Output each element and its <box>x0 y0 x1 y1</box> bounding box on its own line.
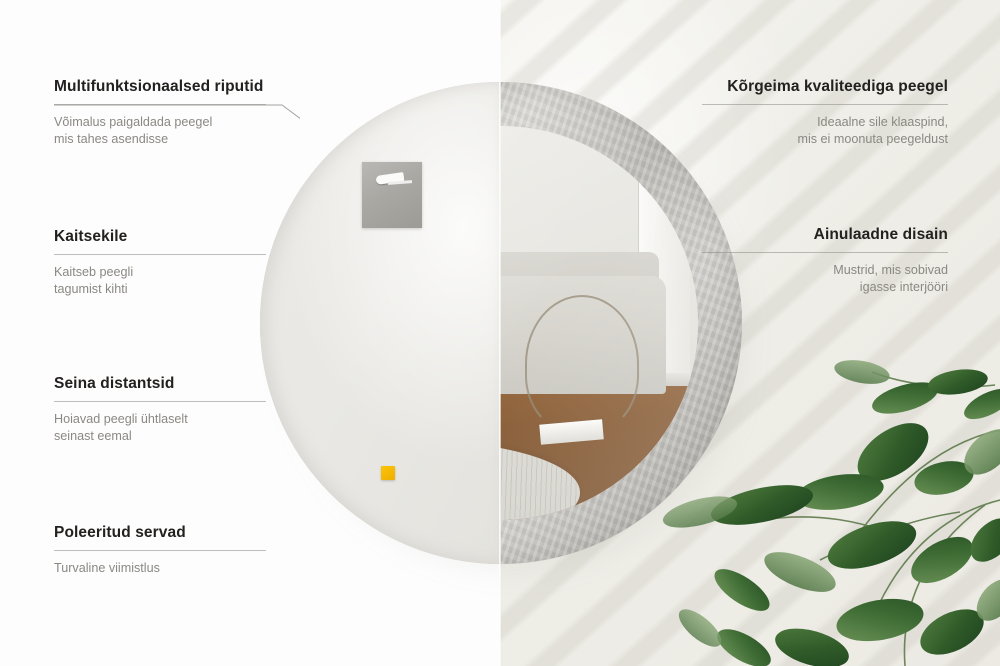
callout-seina-distantsid: Seina distantsid Hoiavad peegli ühtlasel… <box>54 375 266 446</box>
callout-desc-line1: Võimalus paigaldada peegel <box>54 114 266 132</box>
callout-rule <box>54 104 266 105</box>
mirror-left-edge-shadow <box>260 82 500 564</box>
hanger-bracket-detail <box>362 162 422 228</box>
callout-desc-line1: Mustrid, mis sobivad <box>702 262 948 280</box>
hanger-bar-icon <box>388 180 412 185</box>
callout-title: Multifunktsionaalsed riputid <box>54 78 266 97</box>
callout-desc-line2: seinast eemal <box>54 428 266 446</box>
callout-desc-line2: tagumist kihti <box>54 281 266 299</box>
callout-poleeritud-servad: Poleeritud servad Turvaline viimistlus <box>54 524 266 577</box>
callout-rule <box>54 254 266 255</box>
callout-rule <box>54 550 266 551</box>
callout-multifunktsionaalsed-riputid: Multifunktsionaalsed riputid Võimalus pa… <box>54 78 266 149</box>
panel-seam <box>499 0 501 666</box>
callout-desc-line2: igasse interjööri <box>702 279 948 297</box>
callout-desc-line2: mis ei moonuta peegeldust <box>702 131 948 149</box>
callout-korgeima-kvaliteediga-peegel: Kõrgeima kvaliteediga peegel Ideaalne si… <box>702 78 948 149</box>
callout-desc-line1: Ideaalne sile klaaspind, <box>702 114 948 132</box>
callout-rule <box>702 252 948 253</box>
callout-desc-line2: mis tahes asendisse <box>54 131 266 149</box>
infographic-canvas: Multifunktsionaalsed riputid Võimalus pa… <box>0 0 1000 666</box>
callout-title: Ainulaadne disain <box>702 226 948 245</box>
callout-title: Kaitsekile <box>54 228 266 247</box>
callout-desc-line1: Kaitseb peegli <box>54 264 266 282</box>
wall-spacer-detail <box>381 466 395 480</box>
callout-rule <box>54 401 266 402</box>
callout-rule <box>702 104 948 105</box>
callout-ainulaadne-disain: Ainulaadne disain Mustrid, mis sobivad i… <box>702 226 948 297</box>
callout-title: Kõrgeima kvaliteediga peegel <box>702 78 948 97</box>
round-mirror <box>260 82 742 564</box>
callout-title: Poleeritud servad <box>54 524 266 543</box>
callout-desc-line1: Hoiavad peegli ühtlaselt <box>54 411 266 429</box>
callout-kaitsekile: Kaitsekile Kaitseb peegli tagumist kihti <box>54 228 266 299</box>
callout-title: Seina distantsid <box>54 375 266 394</box>
callout-desc-line1: Turvaline viimistlus <box>54 560 266 578</box>
reflected-wire-chair <box>525 295 639 433</box>
